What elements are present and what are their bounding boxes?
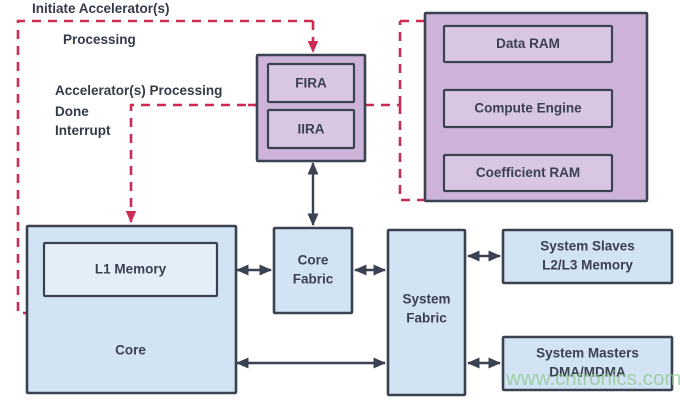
coefficient-ram-block[interactable]: Coefficient RAM [444, 155, 612, 191]
core-fabric-outline [274, 228, 352, 313]
fira-block[interactable]: FIRA [268, 64, 354, 102]
system-slaves-label-line2: L2/L3 Memory [542, 258, 633, 273]
accelerator-block[interactable]: FIRA IIRA [257, 55, 365, 161]
coefficient-ram-label: Coefficient RAM [476, 165, 580, 180]
annotation-done-line1: Accelerator(s) Processing [55, 83, 222, 98]
data-ram-block[interactable]: Data RAM [444, 26, 612, 62]
annotation-initiate-line1: Initiate Accelerator(s) [32, 1, 170, 16]
diagram-canvas: FIRA IIRA Data RAM Compute Engine Coeffi… [0, 0, 680, 402]
core-fabric-label-line1: Core [298, 253, 329, 268]
annotation-done-interrupt: Accelerator(s) Processing Done Interrupt [55, 83, 222, 138]
core-fabric-block[interactable]: Core Fabric [274, 228, 352, 313]
iira-label: IIRA [298, 122, 325, 137]
annotation-initiate-processing: Initiate Accelerator(s) Processing [32, 1, 170, 47]
data-ram-label: Data RAM [496, 36, 560, 51]
system-fabric-label-line1: System [402, 292, 450, 307]
system-fabric-block[interactable]: System Fabric [388, 230, 465, 395]
system-fabric-label-line2: Fabric [406, 311, 447, 326]
system-masters-label-line1: System Masters [536, 346, 639, 361]
accelerator-detail-block[interactable]: Data RAM Compute Engine Coefficient RAM [425, 13, 647, 201]
block-diagram: FIRA IIRA Data RAM Compute Engine Coeffi… [0, 0, 680, 402]
fira-label: FIRA [295, 76, 327, 91]
core-fabric-label-line2: Fabric [293, 272, 334, 287]
compute-engine-label: Compute Engine [474, 101, 582, 116]
annotation-initiate-line2: Processing [63, 32, 136, 47]
watermark: www.cntronics.com [505, 367, 680, 390]
annotation-done-line2: Done [55, 104, 89, 119]
iira-block[interactable]: IIRA [268, 110, 354, 148]
core-label: Core [115, 343, 146, 358]
annotation-done-line3: Interrupt [55, 123, 111, 138]
l1-memory-label: L1 Memory [95, 262, 167, 277]
l1-memory-block[interactable]: L1 Memory [44, 243, 217, 296]
compute-engine-block[interactable]: Compute Engine [444, 90, 612, 127]
system-slaves-label-line1: System Slaves [540, 239, 635, 254]
system-slaves-block[interactable]: System Slaves L2/L3 Memory [503, 230, 672, 283]
core-block[interactable]: L1 Memory Core [27, 226, 236, 393]
